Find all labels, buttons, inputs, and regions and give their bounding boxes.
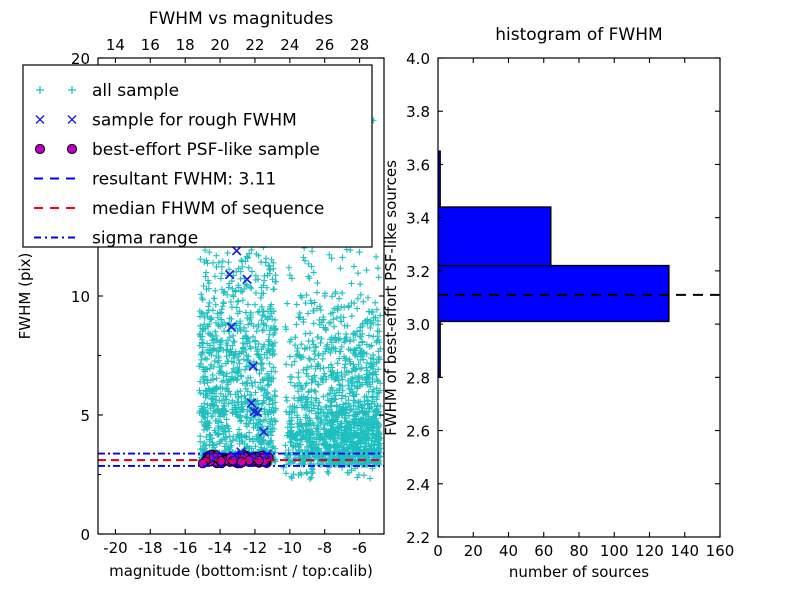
- legend-item-label: sample for rough FWHM: [92, 111, 297, 131]
- left-xaxis-label: magnitude (bottom:isnt / top:calib): [109, 562, 373, 580]
- left-top-tick-labels: 1416182022242628: [106, 36, 369, 54]
- scatter-point-plus: [375, 265, 381, 271]
- scatter-point-plus: [302, 258, 308, 264]
- scatter-point-plus: [334, 315, 340, 321]
- scatter-point-plus: [373, 254, 379, 260]
- right-y-tick-label: 3.8: [406, 103, 430, 121]
- scatter-point-plus: [204, 260, 210, 266]
- scatter-point-plus: [370, 333, 376, 339]
- scatter-point-plus: [283, 394, 289, 400]
- scatter-point-plus: [272, 317, 278, 323]
- scatter-point-plus: [341, 304, 347, 310]
- scatter-point-plus: [336, 295, 342, 301]
- scatter-point-plus: [308, 474, 314, 480]
- right-y-tick-label: 2.4: [406, 476, 430, 494]
- scatter-point-plus: [337, 265, 343, 271]
- scatter-point-plus: [267, 361, 273, 367]
- legend[interactable]: all samplesample for rough FWHMbest-effo…: [23, 65, 372, 249]
- scatter-point-plus: [213, 253, 219, 259]
- scatter-point-plus: [226, 284, 232, 290]
- right-y-tick-label: 3.6: [406, 156, 430, 174]
- scatter-point-plus: [348, 280, 354, 286]
- scatter-point-plus: [365, 397, 371, 403]
- scatter-point-plus: [283, 470, 289, 476]
- scatter-point-plus: [211, 295, 217, 301]
- scatter-point-plus: [197, 439, 203, 445]
- legend-item-label: resultant FWHM: 3.11: [92, 170, 276, 190]
- scatter-point-plus: [289, 362, 295, 368]
- scatter-point-plus: [360, 299, 366, 305]
- scatter-point-plus: [354, 305, 360, 311]
- scatter-point-cross: [232, 247, 240, 255]
- scatter-point-plus: [307, 330, 313, 336]
- right-x-tick-label: 40: [499, 542, 518, 560]
- scatter-point-plus: [321, 425, 327, 431]
- scatter-point-plus: [246, 265, 252, 271]
- left-yaxis-label: FWHM (pix): [16, 253, 34, 340]
- scatter-point-plus: [338, 314, 344, 320]
- scatter-point-plus: [325, 410, 331, 416]
- left-y-tick-label: 0: [80, 526, 90, 544]
- scatter-point-plus: [287, 353, 293, 359]
- matplotlib-figure: FWHM vs magnitudes 1416182022242628 -20-…: [0, 0, 800, 600]
- scatter-point-plus: [210, 260, 216, 266]
- scatter-point-plus: [355, 296, 361, 302]
- scatter-point-plus: [252, 379, 258, 385]
- scatter-point-plus: [225, 250, 231, 256]
- scatter-point-plus: [200, 283, 206, 289]
- scatter-point-plus: [245, 301, 251, 307]
- scatter-point-plus: [351, 263, 357, 269]
- scatter-point-plus: [238, 257, 244, 263]
- figure-canvas: FWHM vs magnitudes 1416182022242628 -20-…: [0, 0, 800, 600]
- scatter-point-plus: [259, 327, 265, 333]
- scatter-point-plus: [366, 332, 372, 338]
- legend-marker-circle-icon: [67, 144, 76, 153]
- scatter-point-plus: [243, 363, 249, 369]
- legend-item-label: sigma range: [92, 229, 198, 249]
- scatter-point-plus: [272, 326, 278, 332]
- scatter-point-plus: [339, 290, 345, 296]
- scatter-point-plus: [358, 292, 364, 298]
- scatter-point-plus: [307, 357, 313, 363]
- scatter-point-plus: [220, 258, 226, 264]
- scatter-point-plus: [329, 364, 335, 370]
- right-y-tick-label: 2.8: [406, 369, 430, 387]
- scatter-point-plus: [258, 259, 264, 265]
- scatter-point-plus: [306, 338, 312, 344]
- scatter-point-plus: [355, 270, 361, 276]
- scatter-point-plus: [198, 291, 204, 297]
- right-xaxis-label: number of sources: [509, 563, 649, 581]
- left-top-tick-label: 18: [176, 36, 195, 54]
- legend-item-label: best-effort PSF-like sample: [92, 140, 320, 160]
- scatter-point-plus: [225, 259, 231, 265]
- scatter-point-plus: [331, 324, 337, 330]
- scatter-point-plus: [307, 476, 313, 482]
- scatter-point-plus: [203, 269, 209, 275]
- scatter-point-plus: [367, 325, 373, 331]
- scatter-point-plus: [302, 331, 308, 337]
- right-x-tick-label: 160: [706, 542, 735, 560]
- left-top-tick-label: 16: [141, 36, 160, 54]
- scatter-point-plus: [249, 380, 255, 386]
- scatter-point-plus: [212, 358, 218, 364]
- left-bottom-tick-label: -18: [138, 539, 163, 557]
- scatter-point-plus: [246, 429, 252, 435]
- scatter-point-plus: [338, 349, 344, 355]
- right-x-tick-label: 120: [635, 542, 664, 560]
- scatter-point-plus: [236, 426, 242, 432]
- scatter-point-plus: [241, 393, 247, 399]
- legend-item-label: all sample: [92, 81, 179, 101]
- legend-item-label: median FHWM of sequence: [92, 199, 324, 219]
- scatter-point-plus: [356, 249, 362, 255]
- scatter-point-plus: [363, 365, 369, 371]
- scatter-point-cross: [225, 270, 233, 278]
- scatter-point-plus: [349, 313, 355, 319]
- right-y-tick-label: 3.4: [406, 210, 430, 228]
- left-bottom-tick-label: -20: [103, 539, 128, 557]
- right-x-tick-label: 20: [464, 542, 483, 560]
- right-y-tick-label: 2.2: [406, 529, 430, 547]
- right-x-tick-label: 0: [433, 542, 443, 560]
- left-y-tick-label: 5: [80, 407, 90, 425]
- scatter-point-plus: [300, 254, 306, 260]
- scatter-point-plus: [212, 288, 218, 294]
- right-y-tick-label: 2.6: [406, 423, 430, 441]
- scatter-point-plus: [364, 267, 370, 273]
- scatter-point-plus: [284, 398, 290, 404]
- right-x-tick-label: 100: [600, 542, 629, 560]
- left-top-tick-label: 14: [106, 36, 125, 54]
- scatter-point-plus: [321, 371, 327, 377]
- scatter-point-plus: [309, 248, 315, 254]
- scatter-point-plus: [253, 290, 259, 296]
- scatter-point-plus: [254, 328, 260, 334]
- scatter-point-plus: [282, 442, 288, 448]
- left-top-tick-label: 26: [315, 36, 334, 54]
- left-bottom-tick-label: -16: [173, 539, 198, 557]
- scatter-point-plus: [213, 302, 219, 308]
- scatter-point-plus: [317, 340, 323, 346]
- right-y-tick-label: 3.0: [406, 316, 430, 334]
- scatter-point-plus: [314, 334, 320, 340]
- legend-marker-circle-icon: [35, 144, 44, 153]
- left-bottom-tick-label: -6: [352, 539, 367, 557]
- scatter-point-plus: [288, 379, 294, 385]
- left-top-tick-label: 24: [280, 36, 299, 54]
- scatter-point-plus: [270, 286, 276, 292]
- scatter-point-plus: [235, 299, 241, 305]
- scatter-point-plus: [252, 302, 258, 308]
- scatter-point-plus: [311, 269, 317, 275]
- scatter-point-plus: [218, 275, 224, 281]
- scatter-point-plus: [343, 331, 349, 337]
- scatter-point-plus: [273, 272, 279, 278]
- scatter-point-plus: [320, 356, 326, 362]
- scatter-point-plus: [309, 300, 315, 306]
- scatter-point-plus: [314, 280, 320, 286]
- scatter-point-plus: [292, 358, 298, 364]
- right-x-tick-label: 140: [670, 542, 699, 560]
- scatter-point-plus: [306, 355, 312, 361]
- scatter-point-plus: [198, 357, 204, 363]
- scatter-point-plus: [249, 268, 255, 274]
- right-y-tick-label: 3.2: [406, 263, 430, 281]
- scatter-point-plus: [199, 295, 205, 301]
- scatter-point-plus: [357, 281, 363, 287]
- scatter-point-plus: [218, 310, 224, 316]
- scatter-point-plus: [286, 265, 292, 271]
- scatter-point-plus: [205, 303, 211, 309]
- scatter-point-plus: [219, 264, 225, 270]
- left-top-tick-label: 22: [245, 36, 264, 54]
- right-y-tick-label: 4.0: [406, 50, 430, 68]
- scatter-point-plus: [294, 301, 300, 307]
- left-bottom-tick-labels: -20-18-16-14-12-10-8-6: [103, 539, 367, 557]
- histogram-bars: [438, 151, 669, 377]
- scatter-point-plus: [324, 469, 330, 475]
- left-panel-title: FWHM vs magnitudes: [149, 9, 334, 29]
- scatter-point-plus: [295, 374, 301, 380]
- scatter-point-plus: [339, 254, 345, 260]
- scatter-point-plus: [347, 338, 353, 344]
- scatter-point-plus: [342, 361, 348, 367]
- left-top-tick-label: 20: [211, 36, 230, 54]
- scatter-point-plus: [228, 299, 234, 305]
- scatter-point-plus: [311, 388, 317, 394]
- scatter-point-plus: [197, 433, 203, 439]
- scatter-point-plus: [298, 341, 304, 347]
- histogram-bar: [438, 266, 669, 322]
- scatter-point-plus: [311, 320, 317, 326]
- scatter-point-plus: [372, 300, 378, 306]
- right-y-tick-labels: 2.22.42.62.83.03.23.43.63.84.0: [406, 50, 430, 547]
- scatter-point-plus: [366, 309, 372, 315]
- scatter-point-plus: [245, 321, 251, 327]
- right-x-tick-label: 60: [534, 542, 553, 560]
- right-x-tick-labels: 020406080100120140160: [433, 542, 734, 560]
- right-panel: histogram of FWHM 020406080100120140160 …: [382, 25, 734, 581]
- scatter-point-plus: [314, 289, 320, 295]
- left-bottom-tick-label: -14: [208, 539, 233, 557]
- scatter-point-plus: [318, 307, 324, 313]
- scatter-point-plus: [376, 274, 382, 280]
- left-y-tick-label: 10: [71, 288, 90, 306]
- scatter-point-plus: [200, 297, 206, 303]
- scatter-point-plus: [264, 355, 270, 361]
- scatter-point-plus: [240, 297, 246, 303]
- right-x-tick-label: 80: [569, 542, 588, 560]
- right-panel-title: histogram of FWHM: [495, 25, 662, 45]
- scatter-point-plus: [365, 295, 371, 301]
- scatter-point-plus: [347, 247, 353, 253]
- left-top-tick-label: 28: [350, 36, 369, 54]
- scatter-point-plus: [255, 309, 261, 315]
- left-bottom-tick-label: -8: [317, 539, 332, 557]
- scatter-point-plus: [364, 360, 370, 366]
- scatter-point-plus: [367, 475, 373, 481]
- left-bottom-tick-label: -10: [278, 539, 303, 557]
- scatter-point-plus: [360, 356, 366, 362]
- scatter-point-plus: [234, 304, 240, 310]
- scatter-point-plus: [230, 333, 236, 339]
- scatter-point-plus: [283, 361, 289, 367]
- histogram-bar: [438, 207, 551, 266]
- scatter-point-plus: [325, 470, 331, 476]
- scatter-point-plus: [293, 353, 299, 359]
- scatter-point-plus: [239, 258, 245, 264]
- scatter-point-plus: [298, 293, 304, 299]
- scatter-point-plus: [345, 303, 351, 309]
- scatter-point-plus: [293, 321, 299, 327]
- scatter-point-plus: [197, 256, 203, 262]
- scatter-point-plus: [207, 365, 213, 371]
- scatter-point-plus: [219, 270, 225, 276]
- scatter-point-plus: [212, 273, 218, 279]
- scatter-point-plus: [284, 300, 290, 306]
- right-yaxis-label: FWHM of best-effort PSF-like sources: [382, 160, 400, 436]
- scatter-point-plus: [206, 300, 212, 306]
- left-bottom-tick-label: -12: [243, 539, 268, 557]
